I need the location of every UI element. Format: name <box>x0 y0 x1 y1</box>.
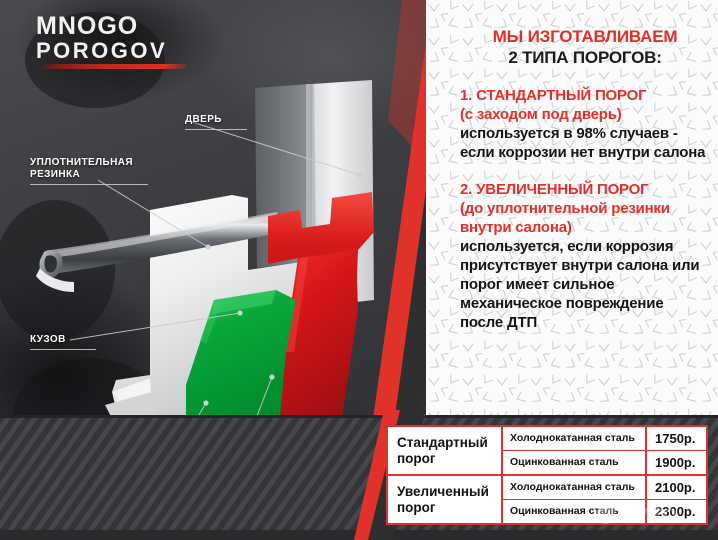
panel-header: МЫ ИЗГОТАВЛИВАЕМ 2 ТИПА ПОРОГОВ: <box>460 26 710 68</box>
price-table-grid: Стандартный порог Холоднокатанная сталь … <box>388 427 706 523</box>
callout-body-rule <box>30 349 96 350</box>
table-row: Стандартный порог Холоднокатанная сталь … <box>388 427 706 451</box>
block-1-title: 1. СТАНДАРТНЫЙ ПОРОГ <box>460 86 710 105</box>
price-material-2: Оцинкованная сталь <box>502 451 646 476</box>
callout-seal: УПЛОТНИТЕЛЬНАЯ РЕЗИНКА <box>30 145 148 197</box>
callout-seal-rule <box>30 184 148 185</box>
info-block-standard: 1. СТАНДАРТНЫЙ ПОРОГ (с заходом под двер… <box>460 86 710 162</box>
price-value-1: 1750р. <box>646 427 706 451</box>
block-2-title: 2. УВЕЛИЧЕННЫЙ ПОРОГ <box>460 180 710 199</box>
info-block-extended: 2. УВЕЛИЧЕННЫЙ ПОРОГ (до уплотнительной … <box>460 180 710 332</box>
callout-door-rule <box>185 129 247 130</box>
header-line-1: МЫ ИЗГОТАВЛИВАЕМ <box>460 26 710 47</box>
block-2-subtitle: (до уплотнительной резинки внутри салона… <box>460 199 710 237</box>
callout-seal-label: УПЛОТНИТЕЛЬНАЯ РЕЗИНКА <box>30 157 133 180</box>
callout-door: ДВЕРЬ <box>185 102 247 142</box>
price-value-3: 2100р. <box>646 475 706 500</box>
block-1-subtitle: (с заходом под дверь) <box>460 105 710 124</box>
price-value-2: 1900р. <box>646 451 706 476</box>
info-panel-content: МЫ ИЗГОТАВЛИВАЕМ 2 ТИПА ПОРОГОВ: 1. СТАН… <box>426 0 718 332</box>
callout-door-label: ДВЕРЬ <box>185 114 222 125</box>
block-1-body: используется в 98% случаев - если корроз… <box>460 124 710 162</box>
price-material-4: Оцинкованная сталь <box>502 500 646 524</box>
logo-red-streak <box>39 64 188 69</box>
table-row: Увеличенный порог Холоднокатанная сталь … <box>388 475 706 500</box>
poster-root: ДВЕРЬ УПЛОТНИТЕЛЬНАЯ РЕЗИНКА КУЗОВ СТАНД… <box>0 0 718 540</box>
logo-line-1: MNOGO <box>36 14 206 39</box>
block-2-body: используется, если коррозия присутствует… <box>460 237 710 332</box>
price-material-3: Холоднокатанная сталь <box>502 475 646 500</box>
logo-line-2: POROGOV <box>36 39 206 63</box>
callout-body: КУЗОВ <box>30 322 96 362</box>
callout-body-label: КУЗОВ <box>30 334 66 345</box>
price-type-standard: Стандартный порог <box>388 427 502 475</box>
header-line-2: 2 ТИПА ПОРОГОВ: <box>460 47 710 68</box>
band-top-edge <box>0 415 718 418</box>
price-table: Стандартный порог Холоднокатанная сталь … <box>386 425 708 525</box>
price-type-extended: Увеличенный порог <box>388 475 502 523</box>
price-value-4: 2300р. <box>646 500 706 524</box>
band-bottom-edge <box>0 530 718 540</box>
logo[interactable]: MNOGO POROGOV <box>36 14 206 69</box>
price-material-1: Холоднокатанная сталь <box>502 427 646 451</box>
